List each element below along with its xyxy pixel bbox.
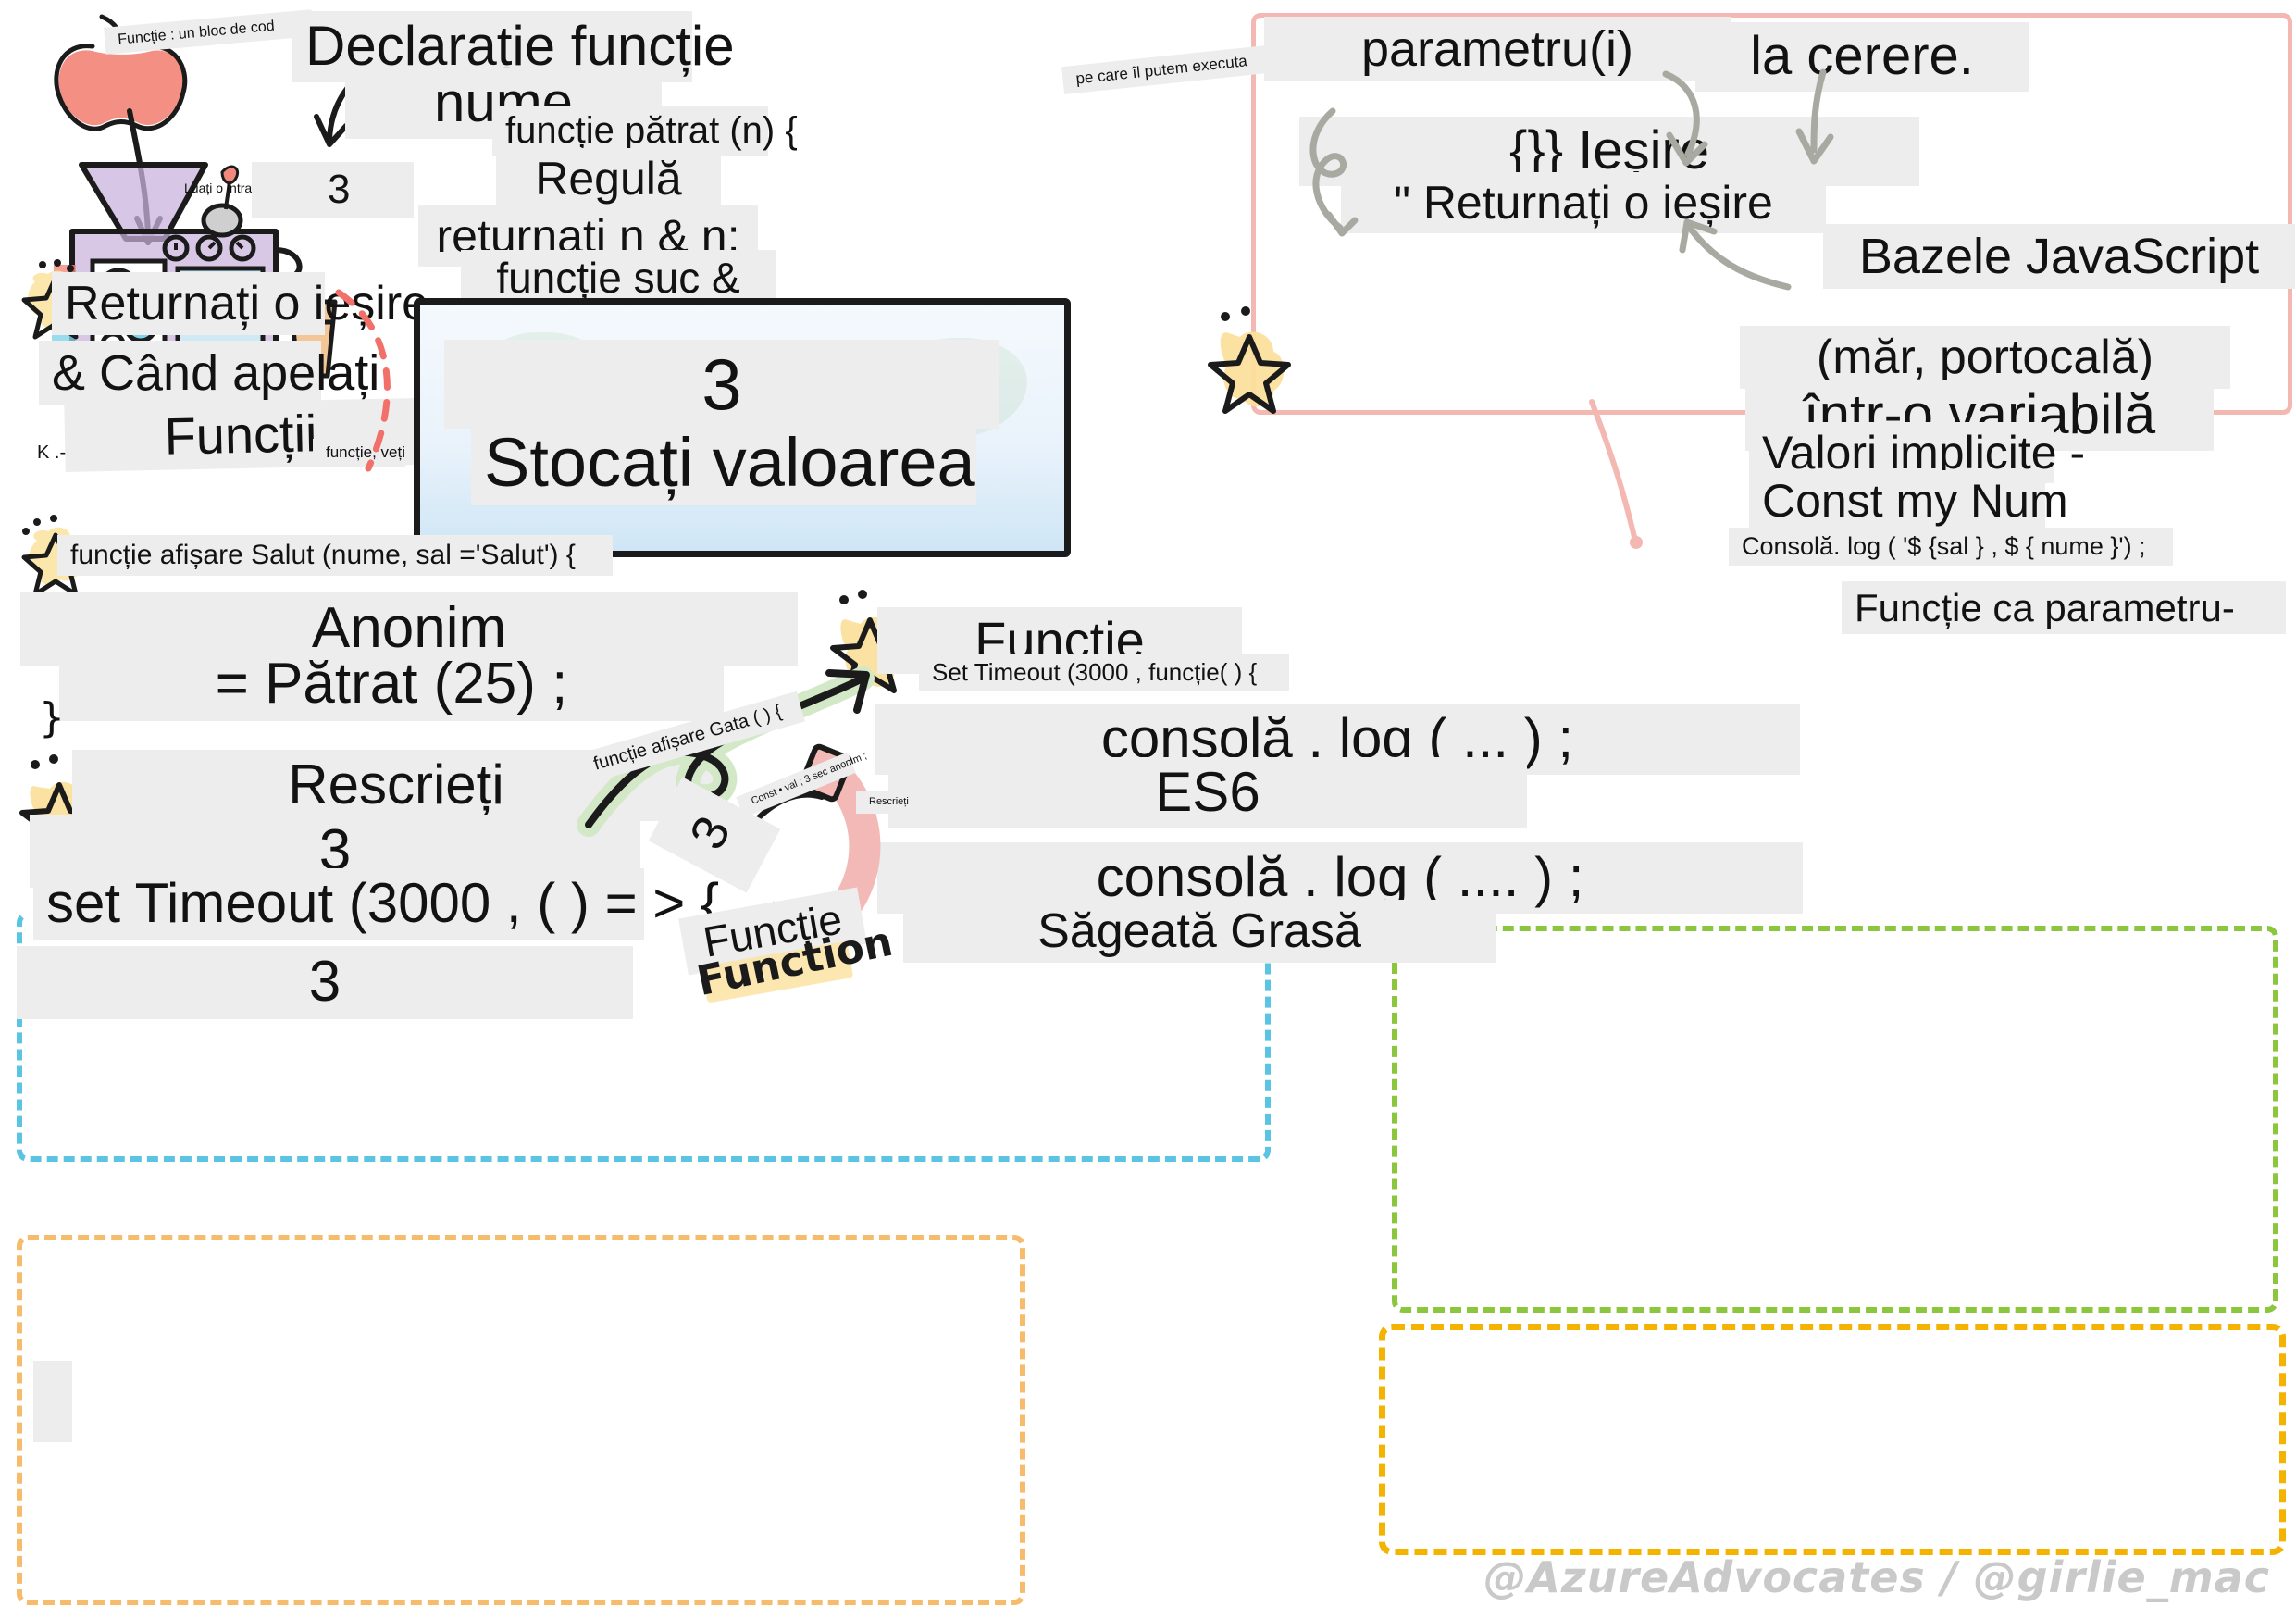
right-const-my-num: Const my Num: [1749, 470, 2045, 531]
orange-region-frame: [17, 1235, 1025, 1605]
right-functie-ca-parametru: Funcție ca parametru-: [1842, 581, 2286, 634]
card-number: 3: [444, 340, 999, 429]
watermark: @AzureAdvocates / @girlie_mac: [1483, 1552, 2270, 1602]
code-functie-afisare-salut: funcție afișare Salut (nume, sal ='Salut…: [57, 535, 613, 576]
blue-closing-brace: }: [26, 691, 63, 746]
left-cand-apelati: & Când apelați: [39, 341, 321, 405]
card-title: Stocați valoarea: [471, 420, 976, 505]
yellow-region-frame: [1379, 1324, 2286, 1555]
orange-set-timeout: set Timeout (3000 , ( ) = > {: [33, 868, 644, 940]
left-k-mark: K .-: [24, 438, 80, 469]
machine-screen-label: Luați o intrare: [171, 176, 264, 201]
green-region-frame: [1392, 926, 2278, 1313]
green-es6: ES6: [888, 757, 1527, 828]
right-consola-log-sal: Consolă. log ( '$ {sal } , $ { nume }') …: [1729, 528, 2173, 566]
center-card: 3 Stocați valoarea: [414, 298, 1071, 557]
top-left-number-3: 3: [252, 162, 414, 218]
yellow-sageata-grasa: Săgeată Grasă: [903, 900, 1496, 963]
sketch-rescrieti-small: Rescrieți: [856, 791, 904, 814]
orange-small-mark: [33, 1361, 72, 1442]
heading-regula: Regulă: [496, 148, 721, 209]
pink-pe-care-putem-executa: pe care îl putem executa: [1061, 44, 1278, 94]
sketchnote-canvas: Funcție : un bloc de cod Luați o intrare…: [0, 0, 2296, 1619]
left-returnati-o-iesire: Returnați o ieșire: [52, 272, 325, 335]
orange-number-3b: 3: [17, 946, 633, 1019]
green-set-timeout-functie: Set Timeout (3000 , funcție( ) {: [919, 654, 1289, 691]
red-dashed-curve: [326, 287, 428, 481]
